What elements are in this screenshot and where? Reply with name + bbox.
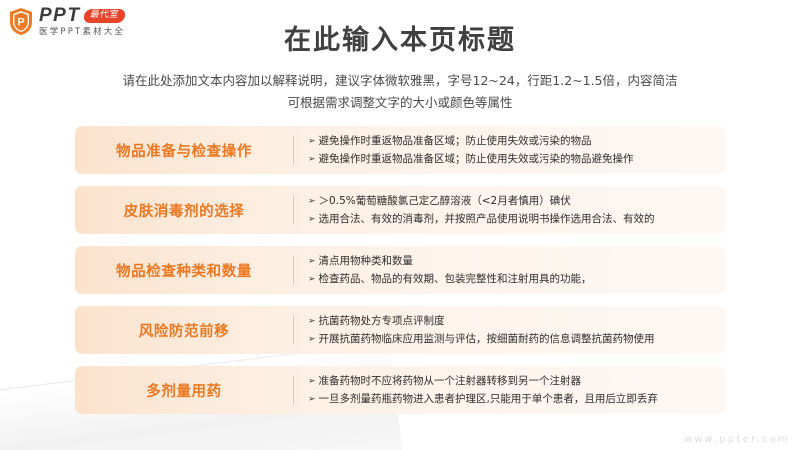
arrow-bullet-icon: ➢ [308,333,316,345]
content-row-list: 物品准备与检查操作 ➢ 避免操作时重返物品准备区域；防止使用失效或污染的物品 ➢… [75,126,725,426]
bullet-item: ➢ 清点用物种类和数量 [308,254,725,268]
bullet-text: 开展抗菌药物临床应用监测与评估，按细菌耐药的信息调整抗菌药物使用 [319,332,655,346]
content-row[interactable]: 多剂量用药 ➢ 准备药物时不应将药物从一个注射器转移到另一个注射器 ➢ 一旦多剂… [75,366,725,414]
row-bullet-list: ➢ ＞0.5%葡萄糖酸氯己定乙醇溶液（<2月者慎用）碘伏 ➢ 选用合法、有效的消… [294,194,725,225]
bullet-text: 准备药物时不应将药物从一个注射器转移到另一个注射器 [319,374,582,388]
arrow-bullet-icon: ➢ [308,393,316,405]
row-label: 皮肤消毒剂的选择 [75,200,293,221]
bullet-item: ➢ 一旦多剂量药瓶药物进入患者护理区,只能用于单个患者，且用后立即丢弃 [308,392,725,406]
subtitle-line-2: 可根据需求调整文字的大小或颜色等属性 [100,92,700,114]
bullet-item: ➢ 检查药品、物品的有效期、包装完整性和注射用具的功能， [308,272,725,286]
bullet-item: ➢ 避免操作时重返物品准备区域；防止使用失效或污染的物品避免操作 [308,152,725,166]
page-title: 在此输入本页标题 [0,18,800,57]
arrow-bullet-icon: ➢ [308,256,316,268]
bullet-text: 检查药品、物品的有效期、包装完整性和注射用具的功能， [319,272,592,286]
row-bullet-list: ➢ 清点用物种类和数量 ➢ 检查药品、物品的有效期、包装完整性和注射用具的功能， [294,254,725,285]
bullet-item: ➢ ＞0.5%葡萄糖酸氯己定乙醇溶液（<2月者慎用）碘伏 [308,194,725,208]
bullet-item: ➢ 抗菌药物处方专项点评制度 [308,314,725,328]
bullet-text: ＞0.5%葡萄糖酸氯己定乙醇溶液（<2月者慎用）碘伏 [319,194,571,208]
arrow-bullet-icon: ➢ [308,136,316,148]
bullet-text: 选用合法、有效的消毒剂，并按照产品使用说明书操作选用合法、有效的 [319,212,655,226]
bullet-item: ➢ 选用合法、有效的消毒剂，并按照产品使用说明书操作选用合法、有效的 [308,212,725,226]
content-row[interactable]: 物品准备与检查操作 ➢ 避免操作时重返物品准备区域；防止使用失效或污染的物品 ➢… [75,126,725,174]
page-subtitle: 请在此处添加文本内容加以解释说明，建议字体微软雅黑，字号12~24，行距1.2~… [100,70,700,114]
row-label: 风险防范前移 [75,320,293,341]
arrow-bullet-icon: ➢ [308,273,316,285]
bullet-item: ➢ 避免操作时重返物品准备区域；防止使用失效或污染的物品 [308,134,725,148]
footer-watermark: www.ppter.com [684,434,790,445]
bullet-text: 清点用物种类和数量 [319,254,414,268]
bullet-item: ➢ 开展抗菌药物临床应用监测与评估，按细菌耐药的信息调整抗菌药物使用 [308,332,725,346]
content-row[interactable]: 风险防范前移 ➢ 抗菌药物处方专项点评制度 ➢ 开展抗菌药物临床应用监测与评估，… [75,306,725,354]
bullet-text: 抗菌药物处方专项点评制度 [319,314,445,328]
bullet-text: 一旦多剂量药瓶药物进入患者护理区,只能用于单个患者，且用后立即丢弃 [319,392,658,406]
bullet-text: 避免操作时重返物品准备区域；防止使用失效或污染的物品 [319,134,592,148]
row-bullet-list: ➢ 准备药物时不应将药物从一个注射器转移到另一个注射器 ➢ 一旦多剂量药瓶药物进… [294,374,725,405]
slide-canvas: P PPT 最代室 医学PPT素材大全 在此输入本页标题 请在此处添加文本内容加… [0,0,800,450]
bullet-item: ➢ 准备药物时不应将药物从一个注射器转移到另一个注射器 [308,374,725,388]
arrow-bullet-icon: ➢ [308,213,316,225]
subtitle-line-1: 请在此处添加文本内容加以解释说明，建议字体微软雅黑，字号12~24，行距1.2~… [100,70,700,92]
arrow-bullet-icon: ➢ [308,316,316,328]
content-row[interactable]: 皮肤消毒剂的选择 ➢ ＞0.5%葡萄糖酸氯己定乙醇溶液（<2月者慎用）碘伏 ➢ … [75,186,725,234]
row-label: 物品检查种类和数量 [75,260,293,281]
row-bullet-list: ➢ 避免操作时重返物品准备区域；防止使用失效或污染的物品 ➢ 避免操作时重返物品… [294,134,725,165]
arrow-bullet-icon: ➢ [308,196,316,208]
row-label: 多剂量用药 [75,380,293,401]
row-label: 物品准备与检查操作 [75,140,293,161]
arrow-bullet-icon: ➢ [308,153,316,165]
row-bullet-list: ➢ 抗菌药物处方专项点评制度 ➢ 开展抗菌药物临床应用监测与评估，按细菌耐药的信… [294,314,725,345]
content-row[interactable]: 物品检查种类和数量 ➢ 清点用物种类和数量 ➢ 检查药品、物品的有效期、包装完整… [75,246,725,294]
bullet-text: 避免操作时重返物品准备区域；防止使用失效或污染的物品避免操作 [319,152,634,166]
arrow-bullet-icon: ➢ [308,376,316,388]
